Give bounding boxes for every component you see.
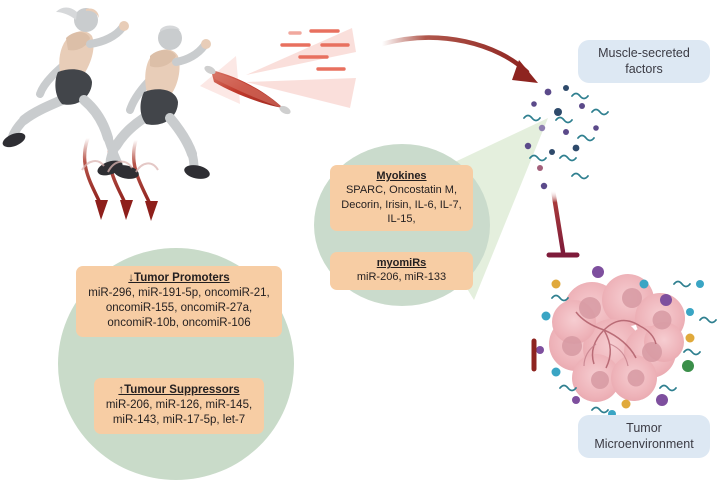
myomirs-body: miR-206, miR-133 bbox=[334, 270, 469, 284]
tumor-cell-cluster bbox=[549, 274, 685, 402]
figure-canvas: ↓Tumor Promoters miR-296, miR-191-5p, on… bbox=[0, 0, 720, 483]
running-male-figure bbox=[96, 26, 211, 182]
myomirs-heading: myomiRs bbox=[334, 256, 469, 270]
myokines-box: Myokines SPARC, Oncostatin M, Decorin, I… bbox=[330, 165, 473, 231]
tumor-promoters-box: ↓Tumor Promoters miR-296, miR-191-5p, on… bbox=[76, 266, 282, 337]
vertical-inhibition-arrow bbox=[549, 190, 577, 255]
tumor-microenvironment-label: Tumor Microenvironment bbox=[578, 415, 710, 458]
tumour-suppressors-body: miR-206, miR-126, miR-145, miR-143, miR-… bbox=[98, 398, 260, 428]
curved-transport-arrow bbox=[382, 38, 538, 83]
downward-exercise-arrows bbox=[85, 138, 158, 221]
tumor-promoters-body: miR-296, miR-191-5p, oncomiR-21, oncomiR… bbox=[80, 286, 278, 331]
tumour-suppressors-box: ↑Tumour Suppressors miR-206, miR-126, mi… bbox=[94, 378, 264, 434]
muscle-secreted-factors-label: Muscle-secreted factors bbox=[578, 40, 710, 83]
myokines-body: SPARC, Oncostatin M, Decorin, Irisin, IL… bbox=[334, 183, 469, 226]
myomirs-box: myomiRs miR-206, miR-133 bbox=[330, 252, 473, 290]
tumor-promoters-heading: ↓Tumor Promoters bbox=[80, 271, 278, 286]
tumour-suppressors-heading: ↑Tumour Suppressors bbox=[98, 383, 260, 398]
horizontal-inhibition-arrow bbox=[288, 341, 534, 369]
running-female-figure bbox=[1, 8, 140, 182]
myokines-heading: Myokines bbox=[334, 169, 469, 183]
